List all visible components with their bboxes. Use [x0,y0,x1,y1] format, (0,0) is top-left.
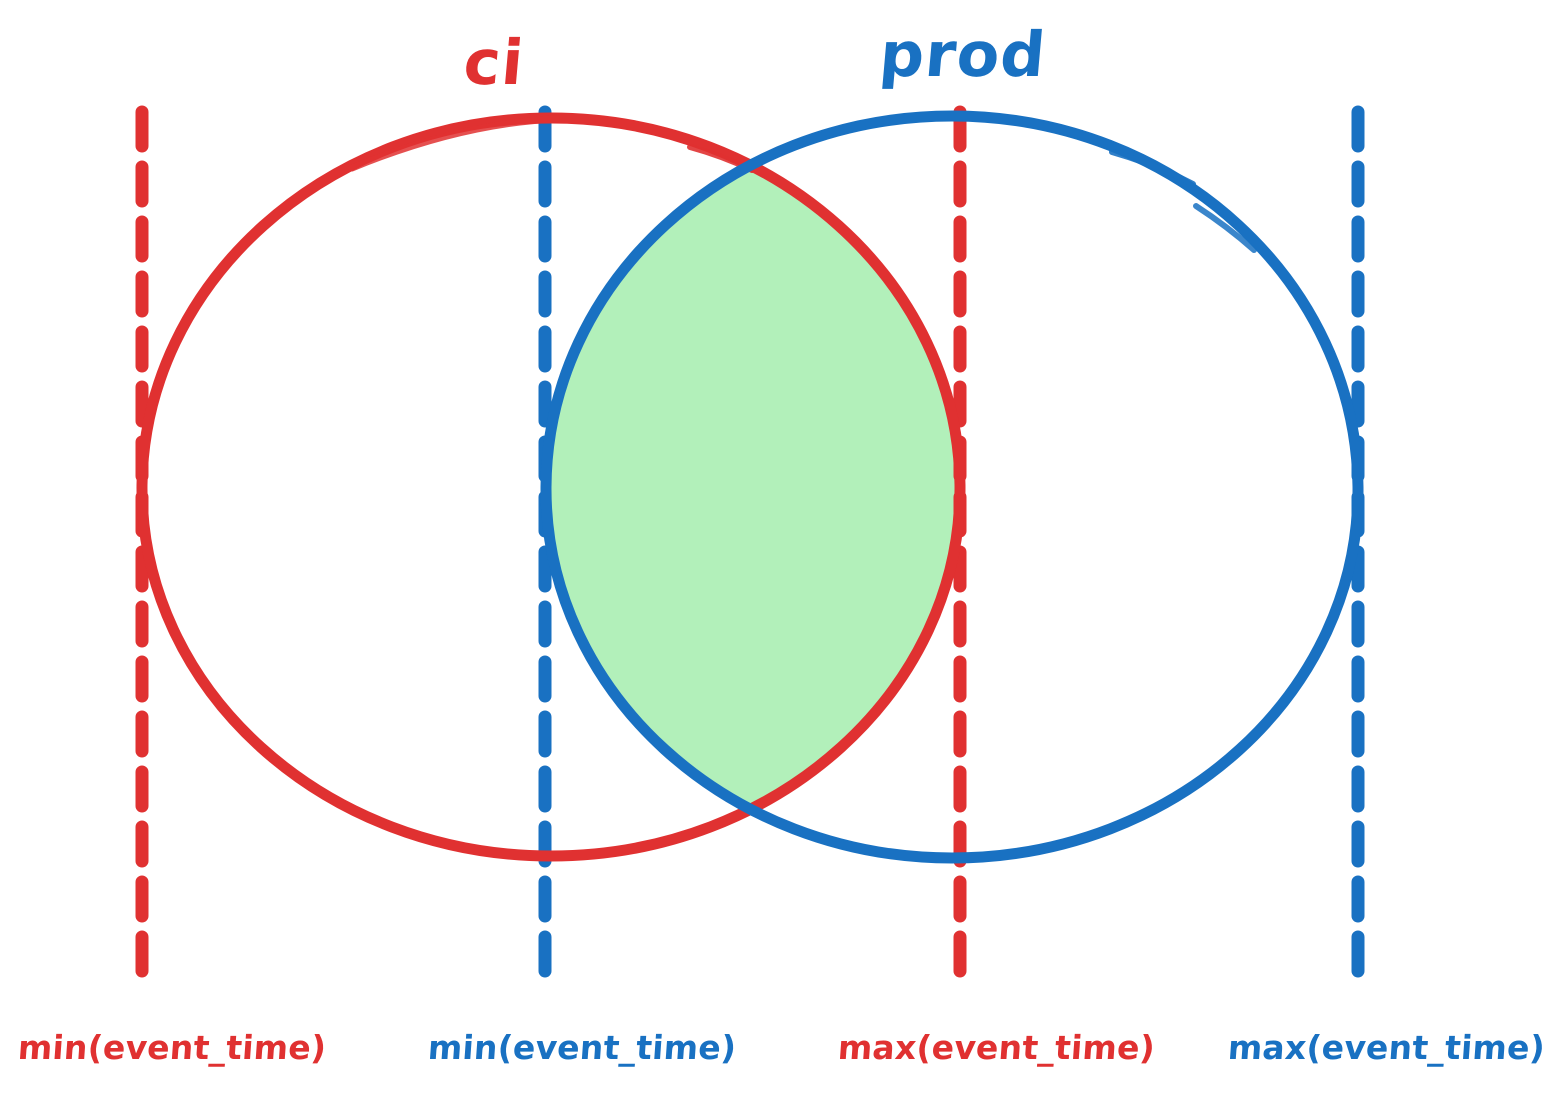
axis-label-prod-min: min(event_time) [427,1028,738,1067]
set-title-prod: prod [877,18,1049,91]
set-title-ci: ci [461,26,527,99]
axis-label-prod-max: max(event_time) [1227,1028,1547,1067]
prod-sketch-tick-upper [1112,152,1193,184]
venn-diagram-graphic [0,0,1565,1098]
venn-diagram-canvas: ci prod min(event_time) min(event_time) … [0,0,1565,1098]
axis-label-ci-min: min(event_time) [17,1028,328,1067]
axis-label-ci-max: max(event_time) [837,1028,1157,1067]
